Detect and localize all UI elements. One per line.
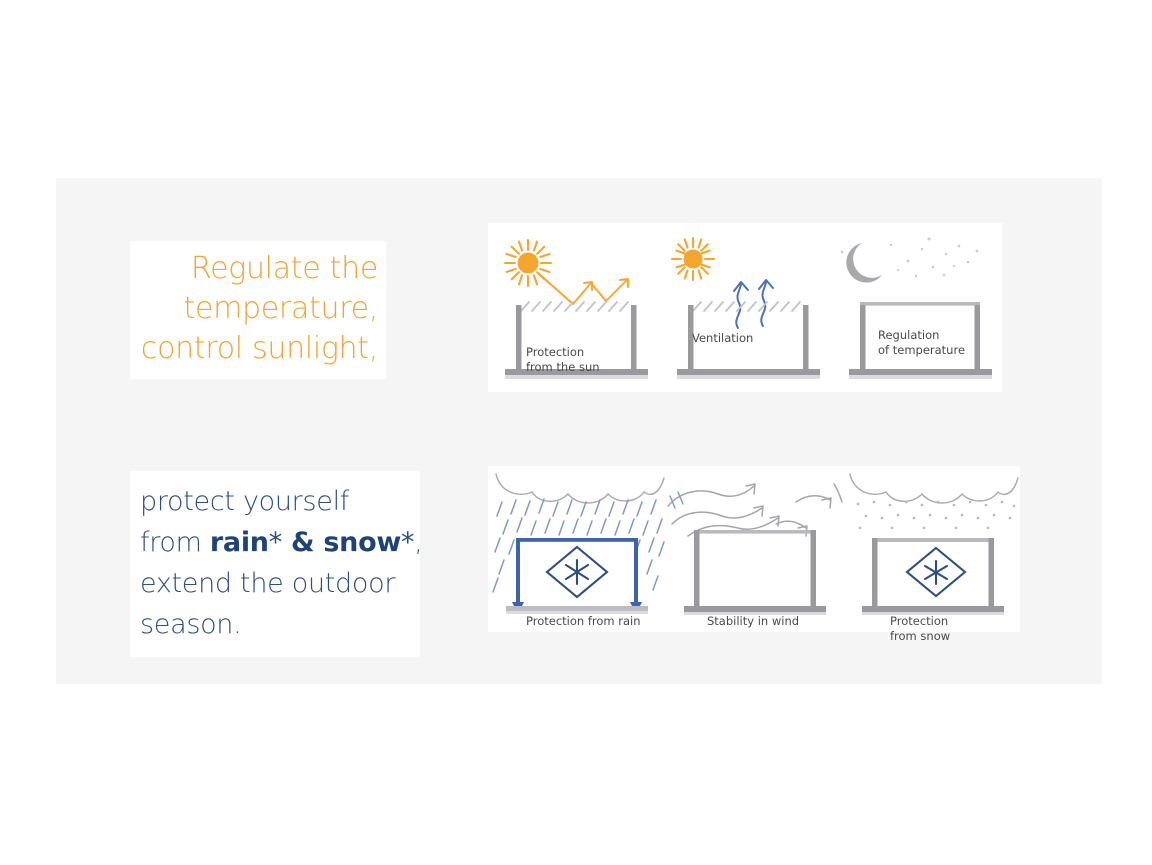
pergola-post-left [694, 530, 700, 606]
caption-ventilation: Ventilation [692, 331, 753, 346]
rain-drainage-pergola-icon [488, 466, 666, 632]
closed-roof-bar [860, 302, 980, 306]
wind-stability-pergola-icon [666, 466, 844, 632]
snow-load-pergola-icon [844, 466, 1020, 632]
sun-disc-icon [518, 253, 539, 274]
pergola-base-shadow [849, 375, 992, 379]
headline-blue-line-2: from rain* & snow*, [140, 522, 410, 563]
headline-orange-line-1: Regulate the [140, 249, 378, 289]
closed-roof-bar [872, 538, 994, 542]
headline-blue-bold-snow: snow [323, 527, 401, 558]
ventilation-airflow-pergola-icon [660, 223, 832, 392]
rain-cloud-icon [496, 474, 664, 503]
headline-blue-suffix: , [414, 527, 422, 558]
pergola-post-right [975, 305, 981, 369]
icon-cell-protection-from-the-sun: Protection from the sun [488, 223, 660, 392]
icon-cell-ventilation: Ventilation [660, 223, 832, 392]
pergola-base-bar [506, 606, 648, 611]
wind-stream-arrows-icon [668, 484, 842, 536]
diamond-asterisk-mark-icon [907, 548, 965, 596]
pergola-base-bar [684, 606, 826, 612]
headline-blue-ampersand: & [282, 527, 323, 558]
headline-blue-bold-rain: rain [210, 527, 269, 558]
icon-cell-regulation-of-temperature: Regulation of temperature [832, 223, 1002, 392]
pergola-base-bar [862, 606, 1004, 612]
icon-cell-protection-from-rain: Protection from rain [488, 466, 666, 632]
caption-stability-in-wind: Stability in wind [707, 614, 799, 629]
pergola-base-shadow [505, 375, 648, 379]
headline-orange-line-2: temperature, [140, 289, 378, 329]
crescent-moon-icon [846, 243, 882, 283]
rain-post-right [634, 538, 638, 604]
headline-blue-star-2: * [401, 527, 414, 558]
closed-roof-bar [694, 530, 816, 534]
pergola-post-right [811, 530, 817, 606]
icon-cell-protection-from-snow: Protection from snow [844, 466, 1020, 632]
stars-icon [841, 238, 979, 278]
rain-post-left [516, 538, 520, 604]
slide-panel: Regulate the temperature, control sunlig… [56, 178, 1102, 684]
headline-orange-line-3: control sunlight, [140, 329, 378, 369]
snow-cloud-icon [850, 474, 1018, 503]
rain-roof-bar [516, 538, 638, 542]
headline-blue-block: protect yourself from rain* & snow*, ext… [130, 471, 420, 657]
icon-cell-stability-in-wind: Stability in wind [666, 466, 844, 632]
pergola-post-left [516, 305, 522, 369]
diamond-asterisk-mark-icon [547, 547, 607, 597]
pergola-post-left [872, 538, 878, 606]
wind-accent-strokes-icon [670, 492, 683, 508]
icon-card-bottom-row: Protection from rain [488, 466, 1020, 632]
caption-regulation-of-temperature: Regulation of temperature [878, 328, 965, 358]
pergola-post-left [860, 305, 866, 369]
icon-card-top-row: Protection from the sun [488, 223, 1002, 392]
snow-dots-icon [857, 501, 1016, 530]
headline-blue-line-4: season. [140, 604, 410, 645]
headline-blue-prefix: from [140, 527, 210, 558]
open-slatted-roof-icon [693, 302, 800, 311]
pergola-post-right [989, 538, 995, 606]
caption-protection-from-rain: Protection from rain [526, 614, 641, 629]
headline-orange-block: Regulate the temperature, control sunlig… [130, 241, 386, 379]
caption-protection-from-snow: Protection from snow [890, 614, 950, 644]
pergola-base-bar [849, 369, 992, 375]
night-moon-closed-roof-pergola-icon [832, 223, 1002, 392]
pergola-base-bar [677, 369, 820, 375]
headline-blue-star-1: * [269, 527, 282, 558]
headline-blue-line-1: protect yourself [140, 481, 410, 522]
sun-disc-icon [684, 250, 703, 269]
pergola-base-shadow [677, 375, 820, 379]
caption-protection-from-the-sun: Protection from the sun [526, 345, 600, 375]
headline-blue-line-3: extend the outdoor [140, 563, 410, 604]
reflected-ray-path-icon [538, 273, 627, 304]
pergola-post-right [631, 305, 637, 369]
pergola-post-right [803, 305, 809, 369]
